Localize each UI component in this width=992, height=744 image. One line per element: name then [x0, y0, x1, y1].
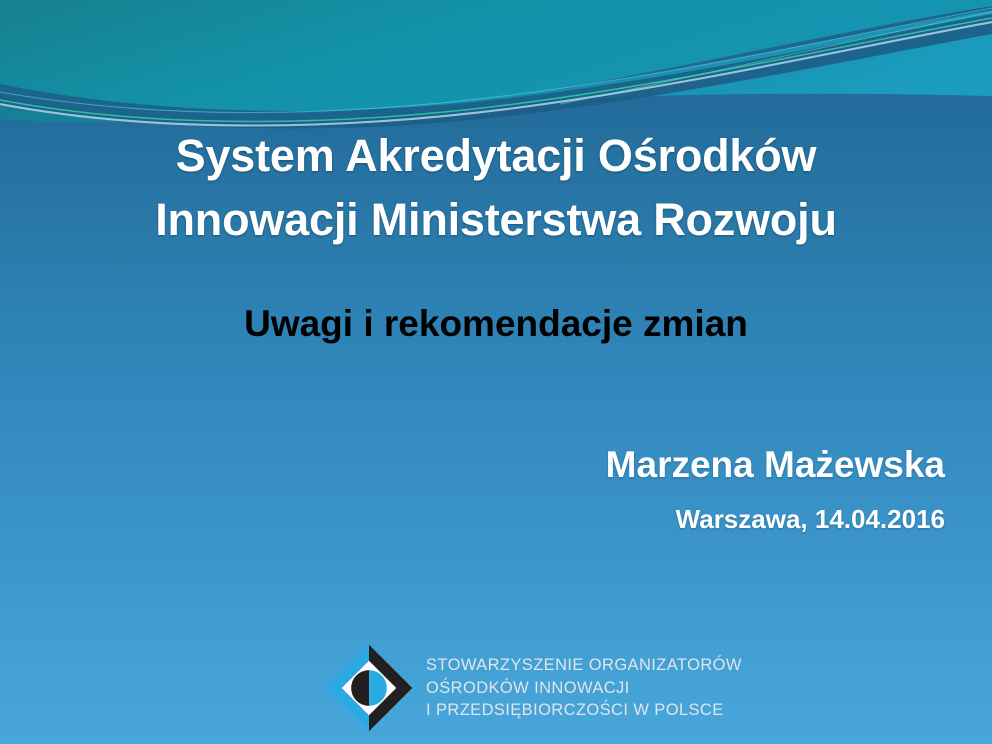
slide-title: System Akredytacji Ośrodków Innowacji Mi… [60, 124, 932, 253]
footer-logo: STOWARZYSZENIE ORGANIZATORÓW OŚRODKÓW IN… [322, 641, 742, 735]
logo-text-line-3: I PRZEDSIĘBIORCZOŚCI W POLSCE [426, 699, 742, 722]
soo-ipp-diamond-logo-icon [322, 641, 416, 735]
slide-content: System Akredytacji Ośrodków Innowacji Mi… [0, 0, 992, 744]
location-date: Warszawa, 14.04.2016 [676, 504, 945, 535]
slide-subtitle: Uwagi i rekomendacje zmian [60, 302, 932, 346]
logo-organization-name: STOWARZYSZENIE ORGANIZATORÓW OŚRODKÓW IN… [426, 654, 742, 722]
logo-text-line-2: OŚRODKÓW INNOWACJI [426, 677, 742, 700]
title-line-1: System Akredytacji Ośrodków [60, 124, 932, 188]
logo-text-line-1: STOWARZYSZENIE ORGANIZATORÓW [426, 654, 742, 677]
presentation-slide: System Akredytacji Ośrodków Innowacji Mi… [0, 0, 992, 744]
author-name: Marzena Mażewska [606, 443, 945, 487]
title-line-2: Innowacji Ministerstwa Rozwoju [60, 188, 932, 252]
